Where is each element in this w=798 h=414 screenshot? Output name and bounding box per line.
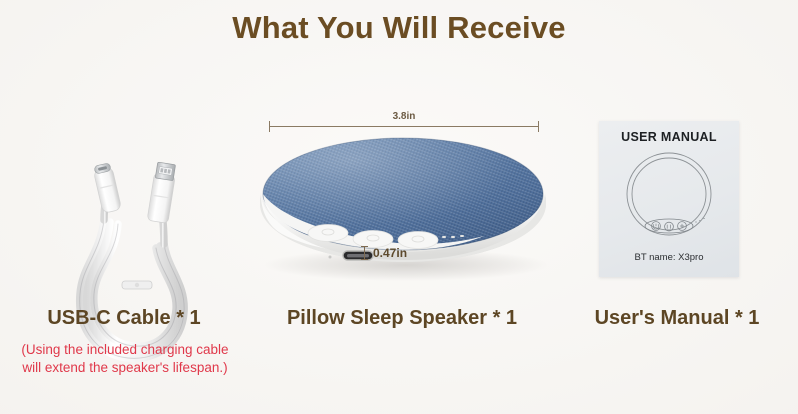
usb-a-connector-icon: [147, 162, 177, 223]
caption-users-manual: User's Manual * 1: [558, 307, 796, 330]
dimension-height-cap-top: [361, 246, 368, 247]
diagram-outer-ring-icon: [627, 153, 711, 235]
mode-button-icon: [678, 222, 687, 231]
speaker-fabric-top: [263, 138, 543, 250]
dimension-height-cap-bottom: [361, 259, 368, 260]
cable-note: (Using the included charging cable will …: [0, 341, 250, 377]
manual-speaker-diagram: [615, 147, 723, 245]
power-button-icon: [652, 222, 661, 231]
usb-c-connector-icon: [92, 162, 121, 213]
users-manual-image: USER MANUAL: [599, 121, 739, 277]
cable-tie-icon: [122, 281, 152, 289]
dimension-height-line: [364, 246, 365, 260]
manual-cover-title: USER MANUAL: [599, 130, 739, 144]
manual-bt-name: BT name: X3pro: [599, 252, 739, 263]
usb-c-cable-image: [60, 162, 210, 367]
cable-note-line-2: will extend the speaker's lifespan.): [0, 359, 250, 377]
caption-pillow-sleep-speaker: Pillow Sleep Speaker * 1: [250, 307, 554, 330]
cable-note-line-1: (Using the included charging cable: [0, 341, 250, 359]
product-infographic: What You Will Receive: [0, 0, 798, 414]
dimension-height: 0.47in: [360, 243, 430, 265]
power-button-icon[interactable]: [308, 225, 348, 242]
dimension-height-label: 0.47in: [373, 246, 407, 260]
page-title: What You Will Receive: [0, 10, 798, 46]
caption-usb-c-cable: USB-C Cable * 1: [0, 307, 248, 330]
cable-item-id: usb-c-cable: [8, 78, 9, 79]
item-usb-c-cable: usb-c-cable: [8, 78, 248, 298]
